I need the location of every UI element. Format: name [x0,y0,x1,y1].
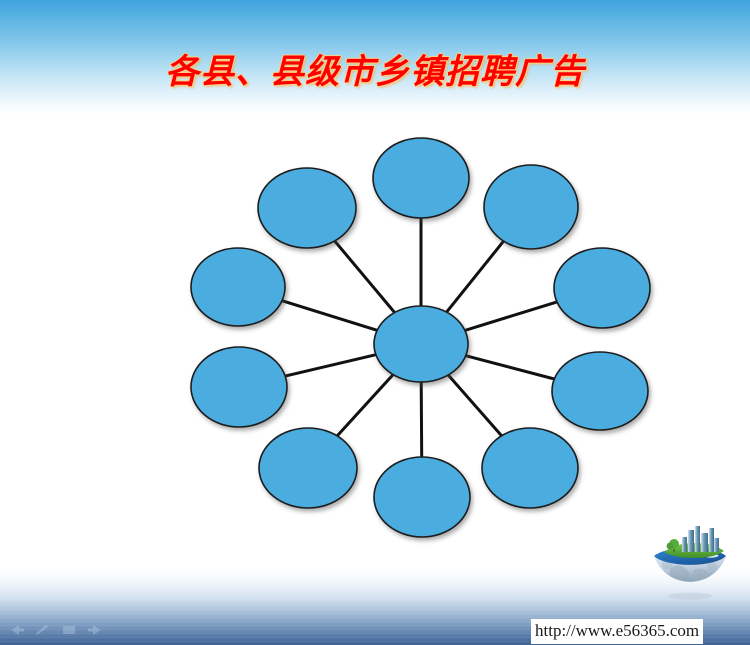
radial-diagram [0,0,750,645]
diagram-node-bottom[interactable] [374,457,470,537]
site-watermark: http://www.e56365.com [531,619,703,644]
diagram-node-left-upper[interactable] [191,248,285,326]
connector-hub-to-node-top-right [447,241,504,312]
node-layer [191,138,650,537]
diagram-node-right-lower[interactable] [552,352,648,430]
globe-reflection [668,593,712,600]
diagram-node-bottom-right[interactable] [482,428,578,508]
connector-hub-to-node-top-left [335,241,395,313]
connector-hub-to-node-right-lower [466,356,555,379]
connector-hub-to-node-right-upper [465,302,557,331]
diagram-node-top-left[interactable] [258,168,356,248]
diagram-node-top[interactable] [373,138,469,218]
diagram-node-top-right[interactable] [484,165,578,249]
connector-hub-to-node-left-upper [282,301,377,331]
globe-city-graphic [648,524,732,602]
radial-diagram-canvas [0,0,750,645]
pen-tool-icon[interactable] [34,623,51,637]
diagram-node-bottom-left[interactable] [259,428,357,508]
diagram-hub-node[interactable] [374,306,468,382]
connector-hub-to-node-bottom-left [337,375,393,436]
previous-slide-icon[interactable] [8,623,25,637]
diagram-node-right-upper[interactable] [554,248,650,328]
diagram-node-left-lower[interactable] [191,347,287,427]
slideshow-nav-controls[interactable] [8,623,103,637]
presentation-slide: 各县、县级市乡镇招聘广告 [0,0,750,645]
connector-hub-to-node-bottom-right [448,375,501,436]
next-slide-icon[interactable] [86,623,103,637]
slide-menu-icon[interactable] [60,623,77,637]
connector-hub-to-node-left-lower [285,355,376,376]
connector-hub-to-node-bottom [421,382,422,457]
